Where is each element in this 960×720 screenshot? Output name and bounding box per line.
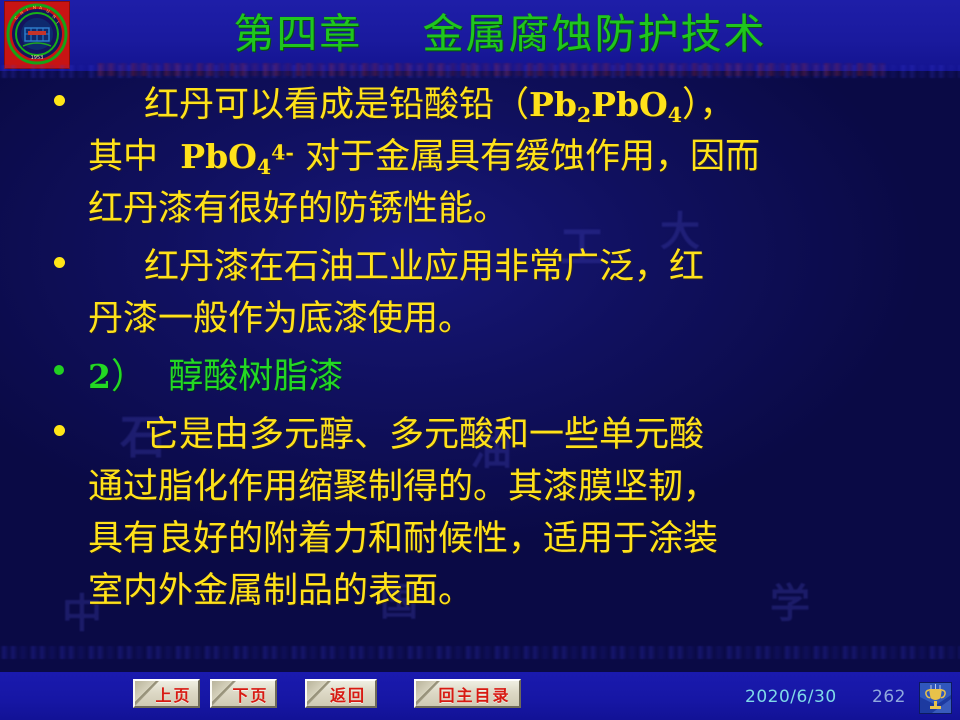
bullet-marker xyxy=(54,365,64,375)
chemical-ion-formula: PbO44- xyxy=(180,137,294,176)
text-line: 红丹可以看成是铅酸铅（Pb2PbO4）， xyxy=(88,79,928,131)
slide-canvas: 第四章 金属腐蚀防护技术 C H I N xyxy=(0,0,960,720)
svg-text:N: N xyxy=(33,5,37,10)
slide-header: 第四章 金属腐蚀防护技术 C H I N xyxy=(0,0,960,71)
bullet-block-3-heading: 2） 醇酸树脂漆 xyxy=(36,351,928,403)
return-button[interactable]: 返回 xyxy=(305,679,377,708)
text-line: 具有良好的附着力和耐候性，适用于涂装 xyxy=(88,513,928,565)
slide-content-panel: 工 大 石 油 中 学 国 红丹可以看成是铅酸铅（Pb2PbO4）， 其中 Pb… xyxy=(0,71,960,672)
footer-page-number: 262 xyxy=(872,687,906,707)
university-emblem-logo: C H I N A U N I 1953 xyxy=(4,1,70,69)
page-title: 第四章 金属腐蚀防护技术 xyxy=(0,5,960,63)
emblem-icon: C H I N A U N I 1953 xyxy=(5,2,69,68)
text-line: 红丹漆有很好的防锈性能。 xyxy=(88,183,928,235)
bullet-marker xyxy=(54,257,65,268)
bullet-block-1: 红丹可以看成是铅酸铅（Pb2PbO4）， 其中 PbO44- 对于金属具有缓蚀作… xyxy=(36,79,928,235)
trophy-icon xyxy=(919,682,952,714)
return-label: 返回 xyxy=(307,681,375,706)
text-line: 其中 PbO44- 对于金属具有缓蚀作用，因而 xyxy=(88,131,928,183)
text-line: 丹漆一般作为底漆使用。 xyxy=(88,293,928,345)
text-line: 室内外金属制品的表面。 xyxy=(88,565,928,617)
text-line: 红丹漆在石油工业应用非常广泛，红 xyxy=(88,241,928,293)
main-menu-button[interactable]: 回主目录 xyxy=(414,679,521,708)
bullet-marker xyxy=(54,95,65,106)
bullet-block-2: 红丹漆在石油工业应用非常广泛，红 丹漆一般作为底漆使用。 xyxy=(36,241,928,345)
prev-page-label: 上页 xyxy=(135,681,198,706)
section-number: 2 xyxy=(88,357,111,396)
text-line: 2） 醇酸树脂漆 xyxy=(88,351,928,403)
emblem-year: 1953 xyxy=(31,55,44,61)
text-line: 通过脂化作用缩聚制得的。其漆膜坚韧， xyxy=(88,461,928,513)
next-page-label: 下页 xyxy=(212,681,275,706)
next-page-button[interactable]: 下页 xyxy=(210,679,277,708)
text-line: 它是由多元醇、多元酸和一些单元酸 xyxy=(88,409,928,461)
trophy-glyph xyxy=(920,683,951,713)
main-menu-label: 回主目录 xyxy=(416,681,519,706)
chemical-formula: Pb2PbO4 xyxy=(529,85,682,124)
slide-body: 红丹可以看成是铅酸铅（Pb2PbO4）， 其中 PbO44- 对于金属具有缓蚀作… xyxy=(0,71,960,672)
footer-date: 2020/6/30 xyxy=(745,687,837,707)
prev-page-button[interactable]: 上页 xyxy=(133,679,200,708)
bullet-block-4: 它是由多元醇、多元酸和一些单元酸 通过脂化作用缩聚制得的。其漆膜坚韧， 具有良好… xyxy=(36,409,928,617)
bullet-marker xyxy=(54,425,65,436)
